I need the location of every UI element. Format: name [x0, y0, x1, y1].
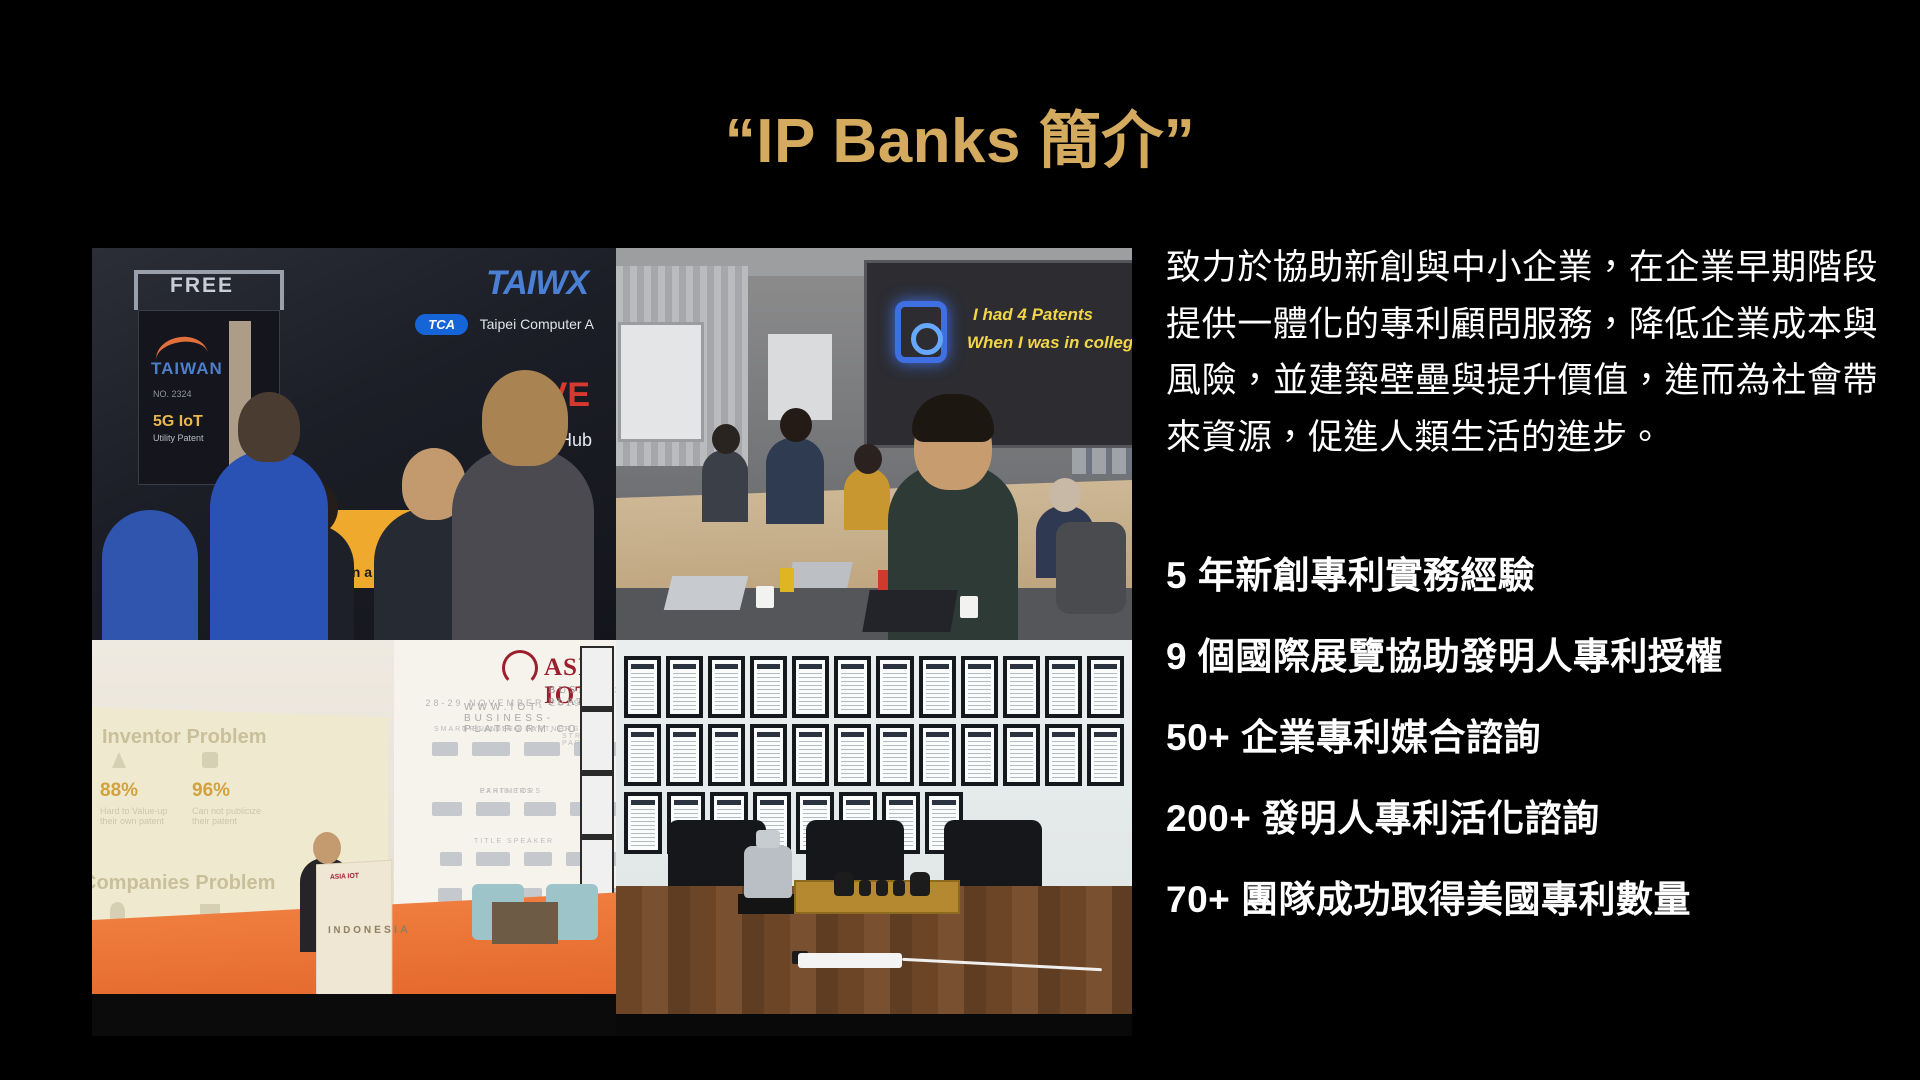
slide-stat-2-sub: Can not publicize their patent	[192, 806, 268, 826]
office-chair	[1056, 522, 1126, 614]
taiwx-brand-label: TAIWX	[486, 264, 588, 303]
framed-patent-certificate	[792, 656, 829, 718]
label-title-speaker: TITLE SPEAKER	[474, 838, 554, 845]
intro-paragraph: 致力於協助新創與中小企業，在企業早期階段提供一體化的專利顧問服務，降低企業成本與…	[1166, 240, 1878, 467]
tea-set	[834, 870, 930, 896]
framed-patent-certificate	[876, 724, 913, 786]
presentation-slide: “IP Banks 簡介” FREE TAIWAN NO. 2324 5G Io…	[0, 0, 1920, 1080]
tca-badge: TCA	[415, 314, 468, 335]
stat-item: 50+ 企業專利媒合諮詢	[1166, 707, 1878, 761]
page-title: “IP Banks 簡介”	[0, 108, 1920, 176]
stats-list: 5 年新創專利實務經驗 9 個國際展覽協助發明人專利授權 50+ 企業專利媒合諮…	[1166, 545, 1878, 923]
electric-kettle	[744, 846, 792, 898]
podium: ASIA IOT INDONESIA	[316, 860, 392, 1017]
framed-patent-certificate	[708, 656, 745, 718]
framed-patent-certificate	[961, 656, 998, 718]
attendee-silhouette	[210, 450, 328, 640]
cabinet	[768, 334, 832, 420]
laptop	[787, 562, 853, 588]
meeting-room-photo: I had 4 Patents When I was in college	[616, 248, 1132, 640]
laptop	[664, 576, 748, 610]
framed-patent-certificate	[666, 656, 703, 718]
slide-header-companies: Companies Problem	[92, 872, 275, 895]
paper-cup	[960, 596, 978, 618]
framed-patent-certificate	[834, 656, 871, 718]
framed-patent-certificate	[624, 656, 661, 718]
framed-patent-certificate	[919, 656, 956, 718]
framed-patent-certificate	[1087, 724, 1124, 786]
label-exhibitors: EXHIBITORS	[480, 788, 542, 795]
power-strip	[798, 953, 902, 968]
framed-patent-certificate	[1003, 656, 1040, 718]
framed-patent-certificate	[1087, 656, 1124, 718]
photo-collage: FREE TAIWAN NO. 2324 5G IoT Utility Pate…	[92, 248, 1132, 1036]
attendee-silhouette	[452, 448, 594, 640]
framed-patent-certificate	[624, 792, 662, 854]
framed-patent-certificate	[792, 724, 829, 786]
framed-patent-certificate	[708, 724, 745, 786]
arrow-up-icon	[112, 752, 126, 768]
certificate-row	[624, 656, 1124, 718]
lightbulb-icon	[110, 902, 125, 920]
stat-item: 70+ 團隊成功取得美國專利數量	[1166, 869, 1878, 923]
slide-line-1: I had 4 Patents	[973, 305, 1093, 325]
framed-patent-certificate	[1045, 656, 1082, 718]
framed-patent-certificate	[1003, 724, 1040, 786]
laptop	[862, 590, 957, 632]
slide-stat-1-sub: Hard to Value-up their own patent	[100, 806, 176, 826]
stat-item: 5 年新創專利實務經驗	[1166, 545, 1878, 599]
attendee-silhouette	[102, 510, 198, 640]
framed-patent-certificate	[1045, 724, 1082, 786]
text-column: 致力於協助新創與中小企業，在企業早期階段提供一體化的專利顧問服務，降低企業成本與…	[1166, 240, 1878, 923]
paper-cup	[756, 586, 774, 608]
asia-iot-logo-icon	[502, 650, 538, 686]
whiteboard	[618, 322, 704, 442]
framed-patent-certificate	[961, 724, 998, 786]
shield-logo-icon	[895, 301, 947, 363]
framed-patent-certificate	[919, 724, 956, 786]
product-title-label: 5G IoT	[153, 413, 203, 431]
framed-patent-certificate	[876, 656, 913, 718]
taiwan-board-label: TAIWAN	[151, 359, 223, 379]
booth-number-label: NO. 2324	[153, 389, 192, 399]
podium-country-label: INDONESIA	[328, 924, 411, 936]
event-date-label: 28-29 NOVEMBER 2019	[425, 698, 582, 708]
product-subtitle-label: Utility Patent	[153, 433, 204, 443]
stage-front-shadow	[92, 994, 616, 1036]
slide-stat-1: 88%	[100, 780, 138, 802]
tca-name-label: Taipei Computer A	[480, 316, 594, 332]
asia-iot-conference-photo: ASIA IOT BUSINESS PLATFORM WWW.IOT-BUSIN…	[92, 640, 616, 1036]
projection-screen: I had 4 Patents When I was in college	[864, 260, 1132, 448]
framed-patent-certificate	[666, 724, 703, 786]
framed-patent-certificate	[750, 724, 787, 786]
attendee-silhouette	[844, 468, 890, 530]
podium-brand-label: ASIA IOT	[330, 873, 359, 881]
slide-stat-2: 96%	[192, 780, 230, 802]
framed-patent-certificate	[834, 724, 871, 786]
framed-patent-certificate	[750, 656, 787, 718]
table-front-edge	[616, 1014, 1132, 1036]
framed-patent-certificate	[624, 724, 661, 786]
attendee-silhouette	[702, 450, 748, 522]
certificate-row	[624, 724, 1124, 786]
stage-side-table	[492, 902, 558, 944]
stat-item: 200+ 發明人專利活化諮詢	[1166, 788, 1878, 842]
stat-item: 9 個國際展覽協助發明人專利授權	[1166, 626, 1878, 680]
briefcase-icon	[202, 752, 218, 768]
patent-certificate-wall-photo	[616, 640, 1132, 1036]
booth-free-label: FREE	[170, 274, 234, 298]
tradeshow-booth-photo: FREE TAIWAN NO. 2324 5G IoT Utility Pate…	[92, 248, 616, 640]
drink-can	[780, 568, 794, 592]
label-smart-partner: SMART BUILDING PARTNER	[434, 726, 572, 733]
slide-header-inventor: Inventor Problem	[102, 726, 266, 749]
slide-line-2: When I was in college	[967, 333, 1132, 353]
attendee-silhouette	[766, 438, 824, 524]
